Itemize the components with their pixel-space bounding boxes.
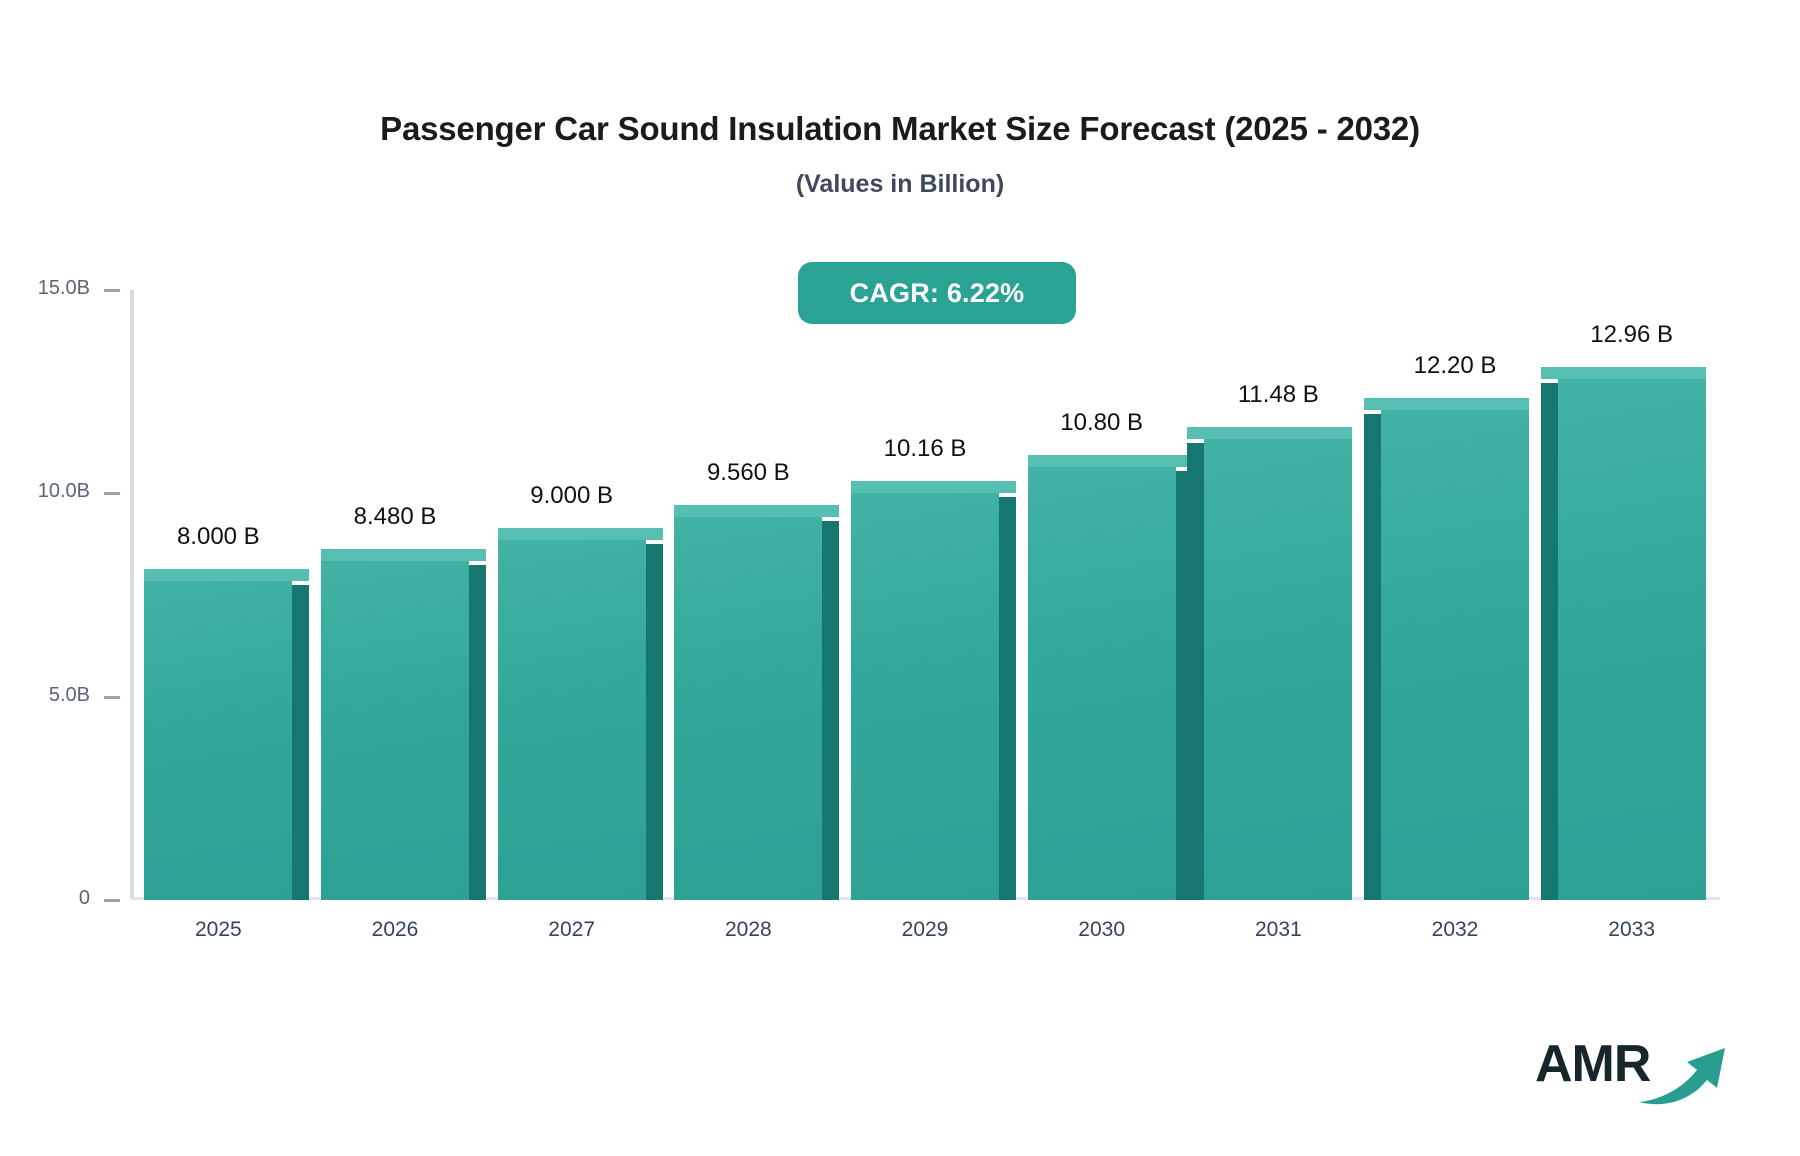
bar-2033[interactable] — [1558, 373, 1706, 900]
y-axis-tick-label: 5.0B — [0, 684, 90, 707]
bar-front-face — [1381, 404, 1529, 900]
chart-canvas: Passenger Car Sound Insulation Market Si… — [0, 0, 1800, 1156]
bar-front-face — [1558, 373, 1706, 900]
bar-side-face — [1541, 383, 1558, 900]
bar-2029[interactable] — [851, 487, 999, 900]
bar-value-label: 10.16 B — [815, 435, 1035, 463]
bar-top-face — [674, 505, 839, 517]
bar-value-label: 10.80 B — [992, 409, 1212, 437]
bar-2032[interactable] — [1381, 404, 1529, 900]
amr-logo-text: AMR — [1535, 1034, 1650, 1094]
bar-2031[interactable] — [1204, 433, 1352, 900]
bar-2030[interactable] — [1028, 461, 1176, 900]
bar-value-label: 12.96 B — [1522, 321, 1742, 349]
amr-logo: AMR — [1535, 1030, 1725, 1110]
y-axis-tick-mark — [104, 289, 120, 292]
bar-side-face — [469, 565, 486, 900]
bar-front-face — [1028, 461, 1176, 900]
bar-front-face — [144, 575, 292, 900]
bar-2028[interactable] — [674, 511, 822, 900]
bar-side-face — [292, 585, 309, 900]
bar-top-face — [851, 481, 1016, 493]
bar-top-face — [321, 549, 486, 561]
bar-front-face — [851, 487, 999, 900]
bar-value-label: 12.20 B — [1345, 352, 1565, 380]
bar-top-face — [1028, 455, 1193, 467]
y-axis-tick-mark — [104, 899, 120, 902]
plot-area — [130, 290, 1720, 900]
bar-2026[interactable] — [321, 555, 469, 900]
bar-side-face — [1187, 443, 1204, 900]
bar-top-face — [1541, 367, 1706, 379]
bar-top-face — [1364, 398, 1529, 410]
bar-front-face — [321, 555, 469, 900]
y-axis-tick-label: 0 — [0, 887, 90, 910]
chart-subtitle: (Values in Billion) — [0, 170, 1800, 199]
bar-top-face — [498, 528, 663, 540]
bar-top-face — [1187, 427, 1352, 439]
y-axis-tick-label: 15.0B — [0, 277, 90, 300]
bar-front-face — [1204, 433, 1352, 900]
growth-arrow-icon — [1637, 1040, 1729, 1106]
bar-value-label: 9.560 B — [638, 459, 858, 487]
bar-side-face — [822, 521, 839, 900]
bar-side-face — [1364, 414, 1381, 900]
bar-front-face — [498, 534, 646, 900]
bar-value-label: 11.48 B — [1168, 381, 1388, 409]
y-axis-line — [130, 290, 134, 900]
x-axis-tick-label: 2033 — [1522, 918, 1742, 942]
y-axis-tick-mark — [104, 492, 120, 495]
bar-side-face — [646, 544, 663, 900]
bar-2027[interactable] — [498, 534, 646, 900]
y-axis-tick-label: 10.0B — [0, 480, 90, 503]
y-axis-tick-mark — [104, 696, 120, 699]
page-title: Passenger Car Sound Insulation Market Si… — [0, 110, 1800, 148]
bar-side-face — [999, 497, 1016, 900]
bar-top-face — [144, 569, 309, 581]
bar-front-face — [674, 511, 822, 900]
bar-2025[interactable] — [144, 575, 292, 900]
